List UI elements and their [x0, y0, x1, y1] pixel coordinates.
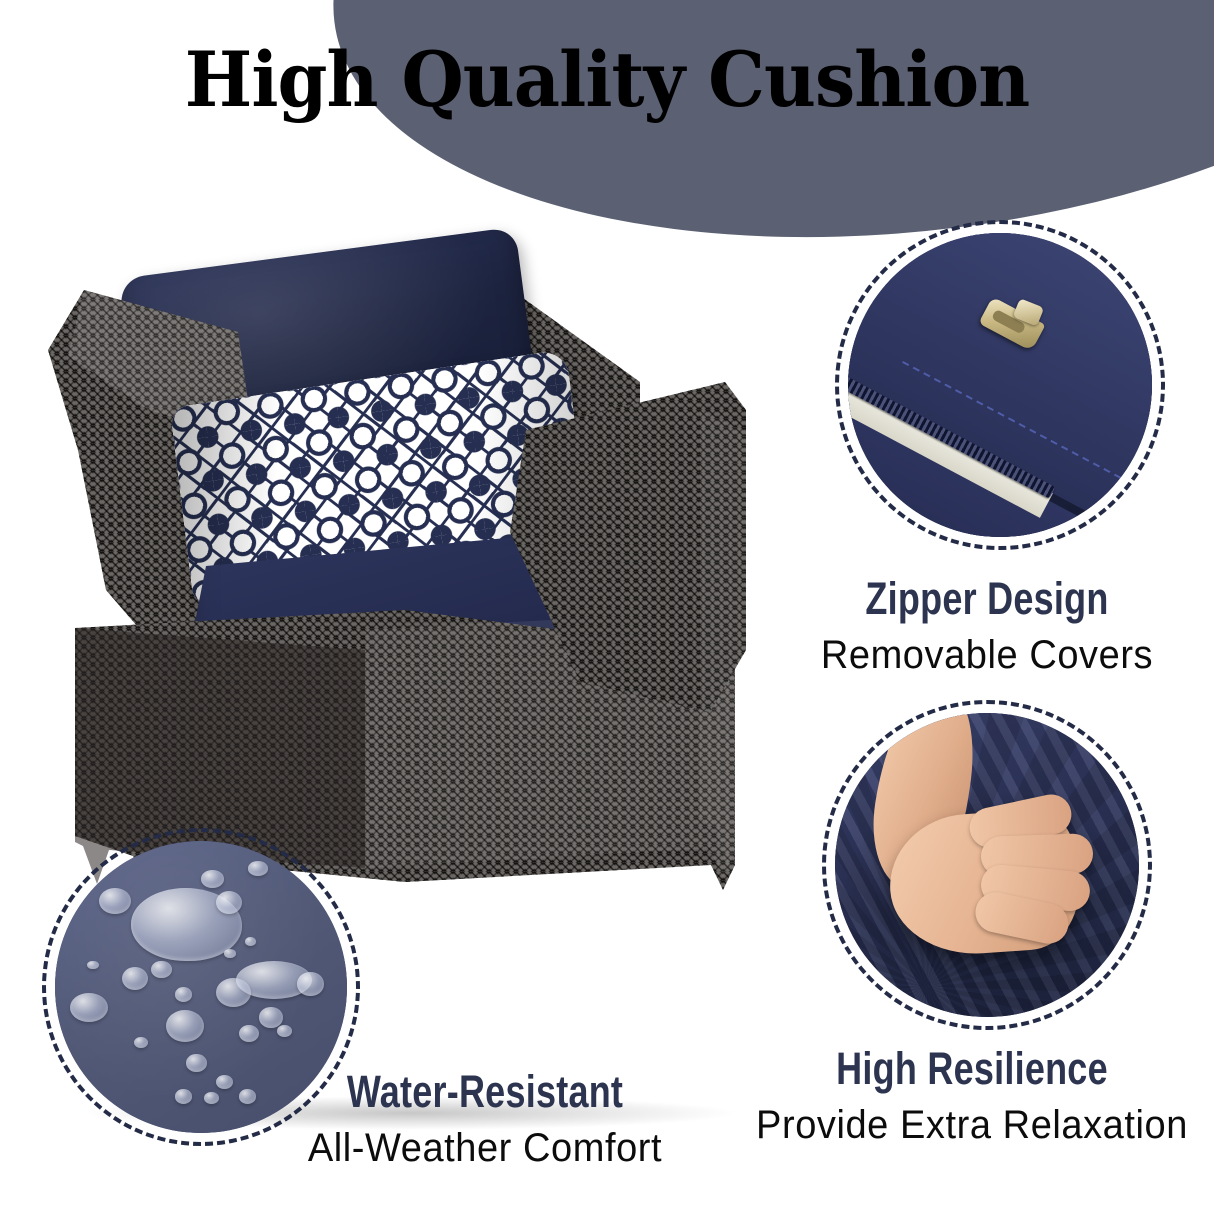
water-droplet	[186, 1054, 206, 1072]
product-photo-chair	[20, 230, 810, 930]
water-droplet	[248, 861, 268, 876]
water-droplet	[277, 1025, 292, 1037]
feature-circle-resilience	[822, 700, 1152, 1030]
water-droplet	[201, 870, 224, 888]
water-droplet	[151, 961, 171, 979]
caption-resilience: High Resilience Provide Extra Relaxation	[730, 1045, 1214, 1150]
hand-pressing-cushion-photo-icon	[835, 713, 1139, 1017]
water-droplet	[70, 993, 108, 1022]
feature-title-zipper: Zipper Design	[805, 575, 1168, 622]
water-droplet	[175, 1089, 193, 1104]
water-droplet	[204, 1092, 219, 1104]
feature-title-water: Water-Resistant	[289, 1068, 681, 1115]
water-droplet	[297, 972, 323, 995]
zipper-photo-icon	[848, 233, 1152, 537]
feature-title-resilience: High Resilience	[778, 1045, 1165, 1092]
feature-subtitle-resilience: Provide Extra Relaxation	[742, 1100, 1202, 1150]
water-droplet	[216, 891, 242, 914]
water-droplet	[122, 967, 148, 990]
water-droplet	[216, 1075, 234, 1090]
caption-zipper: Zipper Design Removable Covers	[760, 575, 1214, 680]
water-droplet	[224, 949, 236, 958]
product-infographic-poster: High Quality Cushion	[0, 0, 1214, 1214]
feature-circle-zipper	[835, 220, 1165, 550]
page-title: High Quality Cushion	[36, 42, 1177, 118]
water-droplet	[99, 888, 131, 914]
water-droplet	[175, 987, 193, 1002]
water-droplet	[216, 978, 251, 1007]
feature-subtitle-zipper: Removable Covers	[771, 630, 1202, 680]
caption-water: Water-Resistant All-Weather Comfort	[240, 1068, 730, 1173]
chair-right-side-panel	[700, 410, 762, 880]
water-droplet	[259, 1007, 282, 1027]
feature-subtitle-water: All-Weather Comfort	[252, 1123, 718, 1173]
